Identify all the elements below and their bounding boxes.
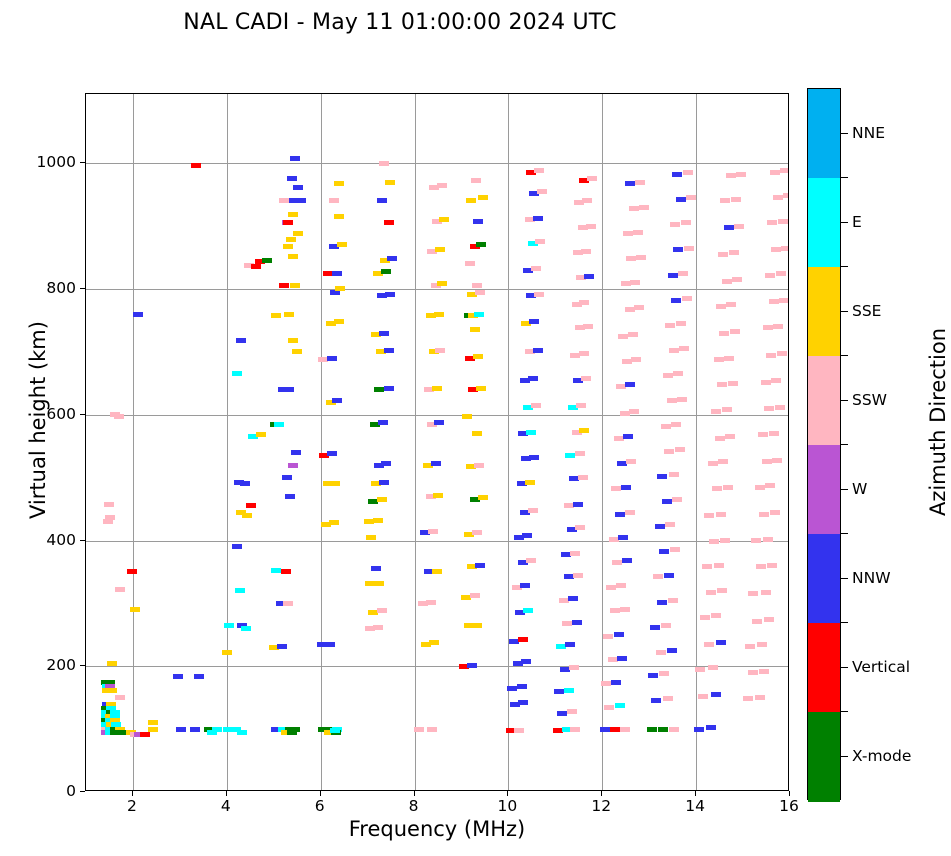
- echo-point: [526, 430, 536, 435]
- echo-point: [578, 475, 588, 480]
- echo-point: [670, 222, 680, 227]
- echo-point: [761, 380, 771, 385]
- echo-point: [766, 353, 776, 358]
- echo-point: [673, 371, 683, 376]
- echo-point: [290, 156, 300, 161]
- echo-point: [783, 193, 788, 198]
- echo-point: [337, 242, 347, 247]
- echo-point: [659, 671, 669, 676]
- echo-point: [115, 587, 125, 592]
- echo-point: [330, 481, 340, 486]
- echo-point: [700, 615, 710, 620]
- echo-point: [377, 608, 387, 613]
- echo-point: [573, 573, 583, 578]
- colorbar-label-ssw: SSW: [852, 391, 887, 409]
- echo-point: [778, 219, 788, 224]
- echo-point: [771, 378, 781, 383]
- echo-point: [465, 261, 475, 266]
- echo-point: [531, 403, 541, 408]
- echo-point: [529, 319, 539, 324]
- echo-point: [334, 319, 344, 324]
- echo-point: [384, 220, 394, 225]
- echo-point: [470, 593, 480, 598]
- echo-point: [708, 665, 718, 670]
- echo-point: [617, 656, 627, 661]
- echo-point: [664, 573, 674, 578]
- echo-point: [371, 566, 381, 571]
- echo-point: [711, 692, 721, 697]
- echo-point: [722, 279, 732, 284]
- echo-point: [385, 180, 395, 185]
- echo-point: [678, 271, 688, 276]
- echo-point: [656, 650, 666, 655]
- echo-point: [296, 198, 306, 203]
- colorbar-segment-x-mode: [808, 712, 840, 802]
- echo-point: [437, 183, 447, 188]
- echo-point: [428, 529, 438, 534]
- echo-point: [377, 497, 387, 502]
- x-tick-mark: [695, 791, 696, 796]
- echo-point: [475, 563, 485, 568]
- echo-point: [472, 283, 482, 288]
- echo-point: [224, 623, 234, 628]
- y-tick-label: 800: [46, 279, 76, 297]
- echo-point: [763, 325, 773, 330]
- echo-point: [764, 617, 774, 622]
- echo-point: [675, 447, 685, 452]
- echo-point: [284, 387, 294, 392]
- echo-point: [107, 661, 117, 666]
- echo-point: [639, 205, 649, 210]
- echo-point: [669, 727, 679, 732]
- echo-point: [759, 512, 769, 517]
- echo-point: [414, 727, 424, 732]
- echo-point: [579, 428, 589, 433]
- colorbar-axis-label: Azimuth Direction: [926, 252, 950, 592]
- echo-point: [614, 632, 624, 637]
- echo-point: [633, 230, 643, 235]
- echo-point: [288, 212, 298, 217]
- colorbar-tick: [841, 133, 848, 134]
- echo-point: [384, 348, 394, 353]
- echo-point: [668, 598, 678, 603]
- echo-point: [769, 431, 779, 436]
- echo-point: [745, 644, 755, 649]
- echo-point: [576, 403, 586, 408]
- echo-point: [775, 405, 785, 410]
- echo-point: [581, 376, 591, 381]
- colorbar-tick: [841, 578, 848, 579]
- echo-point: [327, 451, 337, 456]
- echo-point: [288, 463, 298, 468]
- echo-point: [251, 264, 261, 269]
- colorbar-boundary-tick: [841, 533, 848, 534]
- echo-point: [237, 730, 247, 735]
- echo-point: [695, 667, 705, 672]
- echo-point: [734, 224, 744, 229]
- echo-point: [290, 283, 300, 288]
- echo-point: [629, 409, 639, 414]
- echo-point: [573, 502, 583, 507]
- echo-point: [672, 172, 682, 177]
- echo-point: [432, 569, 442, 574]
- x-tick-mark: [789, 791, 790, 796]
- echo-point: [427, 727, 437, 732]
- echo-point: [293, 231, 303, 236]
- echo-point: [292, 349, 302, 354]
- echo-point: [472, 431, 482, 436]
- x-axis-label: Frequency (MHz): [85, 817, 789, 841]
- echo-point: [531, 266, 541, 271]
- echo-point: [736, 172, 746, 177]
- echo-point: [770, 170, 780, 175]
- echo-point: [623, 434, 633, 439]
- echo-point: [378, 420, 388, 425]
- echo-point: [332, 398, 342, 403]
- echo-point: [716, 512, 726, 517]
- echo-point: [570, 551, 580, 556]
- echo-point: [329, 520, 339, 525]
- echo-point: [565, 642, 575, 647]
- echo-point: [325, 642, 335, 647]
- echo-point: [659, 549, 669, 554]
- echo-point: [770, 510, 780, 515]
- echo-point: [569, 665, 579, 670]
- echo-point: [625, 382, 635, 387]
- echo-point: [140, 732, 150, 737]
- echo-point: [661, 623, 671, 628]
- y-tick-label: 200: [46, 656, 76, 674]
- echo-point: [582, 198, 592, 203]
- echo-point: [274, 422, 284, 427]
- echo-point: [765, 273, 775, 278]
- echo-point: [471, 178, 481, 183]
- plot-area: [85, 93, 789, 791]
- echo-point: [335, 286, 345, 291]
- x-tick-label: 12: [591, 797, 611, 815]
- echo-point: [232, 544, 242, 549]
- echo-point: [435, 348, 445, 353]
- echo-point: [288, 254, 298, 259]
- echo-point: [522, 533, 532, 538]
- echo-point: [433, 493, 443, 498]
- echo-point: [704, 642, 714, 647]
- echo-point: [190, 727, 200, 732]
- echo-point: [581, 249, 591, 254]
- x-tick-mark: [601, 791, 602, 796]
- y-tick-mark: [80, 414, 85, 415]
- echo-point: [712, 486, 722, 491]
- echo-point: [330, 728, 340, 733]
- echo-point: [286, 237, 296, 242]
- echo-point: [757, 642, 767, 647]
- x-tick-mark: [507, 791, 508, 796]
- echo-point: [379, 161, 389, 166]
- echo-point: [762, 459, 772, 464]
- echo-point: [470, 327, 480, 332]
- echo-point: [729, 250, 739, 255]
- echo-point: [658, 727, 668, 732]
- y-tick-mark: [80, 288, 85, 289]
- echo-point: [327, 356, 337, 361]
- y-tick-label: 600: [46, 405, 76, 423]
- echo-point: [282, 475, 292, 480]
- echo-point: [650, 625, 660, 630]
- echo-point: [743, 696, 753, 701]
- echo-point: [366, 535, 376, 540]
- echo-point: [679, 346, 689, 351]
- echo-point: [104, 502, 114, 507]
- echo-point: [731, 197, 741, 202]
- echo-point: [256, 432, 266, 437]
- echo-point: [681, 220, 691, 225]
- echo-point: [664, 449, 674, 454]
- echo-point: [764, 406, 774, 411]
- echo-point: [283, 220, 293, 225]
- echo-point: [236, 338, 246, 343]
- echo-point: [677, 397, 687, 402]
- echo-point: [173, 674, 183, 679]
- echo-point: [176, 727, 186, 732]
- echo-point: [718, 252, 728, 257]
- echo-point: [246, 503, 256, 508]
- colorbar-segment-vertical: [808, 623, 840, 713]
- scatter-data-layer: [86, 94, 788, 790]
- echo-point: [279, 198, 289, 203]
- echo-point: [719, 331, 729, 336]
- echo-point: [676, 321, 686, 326]
- echo-point: [776, 271, 786, 276]
- x-tick-mark: [132, 791, 133, 796]
- echo-point: [579, 300, 589, 305]
- colorbar-tick: [841, 222, 848, 223]
- echo-point: [767, 220, 777, 225]
- echo-point: [518, 637, 528, 642]
- echo-point: [724, 356, 734, 361]
- echo-point: [381, 461, 391, 466]
- echo-point: [668, 273, 678, 278]
- echo-point: [373, 625, 383, 630]
- echo-point: [702, 564, 712, 569]
- echo-point: [429, 640, 439, 645]
- echo-point: [694, 727, 704, 732]
- echo-point: [728, 381, 738, 386]
- echo-point: [587, 176, 597, 181]
- y-tick-mark: [80, 665, 85, 666]
- echo-point: [529, 455, 539, 460]
- echo-point: [758, 432, 768, 437]
- echo-point: [426, 600, 436, 605]
- echo-point: [473, 219, 483, 224]
- echo-point: [603, 634, 613, 639]
- y-tick-mark: [80, 791, 85, 792]
- echo-point: [518, 700, 528, 705]
- colorbar-label-nne: NNE: [852, 124, 885, 142]
- echo-point: [534, 168, 544, 173]
- echo-point: [720, 198, 730, 203]
- echo-point: [628, 332, 638, 337]
- echo-point: [277, 644, 287, 649]
- y-tick-label: 0: [66, 782, 76, 800]
- x-tick-label: 2: [127, 797, 137, 815]
- echo-point: [107, 688, 117, 693]
- echo-point: [579, 351, 589, 356]
- colorbar-segment-w: [808, 445, 840, 535]
- echo-point: [291, 450, 301, 455]
- echo-point: [763, 537, 773, 542]
- echo-point: [636, 255, 646, 260]
- echo-point: [271, 313, 281, 318]
- echo-point: [761, 590, 771, 595]
- x-tick-label: 10: [498, 797, 518, 815]
- echo-point: [288, 338, 298, 343]
- echo-point: [279, 283, 289, 288]
- echo-point: [379, 331, 389, 336]
- echo-point: [669, 472, 679, 477]
- echo-point: [528, 508, 538, 513]
- echo-point: [723, 485, 733, 490]
- echo-point: [620, 727, 630, 732]
- colorbar-tick: [841, 756, 848, 757]
- echo-point: [262, 258, 272, 263]
- echo-point: [752, 619, 762, 624]
- echo-point: [621, 485, 631, 490]
- colorbar-segment-nne: [808, 89, 840, 179]
- echo-point: [334, 214, 344, 219]
- echo-point: [615, 703, 625, 708]
- colorbar-label-w: W: [852, 480, 867, 498]
- echo-point: [526, 558, 536, 563]
- echo-point: [686, 195, 696, 200]
- echo-point: [520, 583, 530, 588]
- echo-point: [575, 451, 585, 456]
- colorbar-boundary-tick: [841, 266, 848, 267]
- colorbar-label-sse: SSE: [852, 302, 881, 320]
- echo-point: [653, 574, 663, 579]
- echo-point: [715, 436, 725, 441]
- echo-point: [717, 588, 727, 593]
- y-tick-label: 400: [46, 531, 76, 549]
- echo-point: [630, 280, 640, 285]
- echo-point: [534, 292, 544, 297]
- echo-point: [657, 474, 667, 479]
- echo-point: [661, 424, 671, 429]
- echo-point: [748, 591, 758, 596]
- echo-point: [191, 163, 201, 168]
- echo-point: [373, 518, 383, 523]
- echo-point: [684, 246, 694, 251]
- echo-point: [714, 357, 724, 362]
- echo-point: [103, 519, 113, 524]
- y-tick-mark: [80, 162, 85, 163]
- echo-point: [281, 569, 291, 574]
- echo-point: [730, 329, 740, 334]
- colorbar-boundary-tick: [841, 711, 848, 712]
- echo-point: [672, 497, 682, 502]
- echo-point: [476, 386, 486, 391]
- echo-point: [476, 242, 486, 247]
- echo-point: [655, 524, 665, 529]
- echo-point: [708, 461, 718, 466]
- echo-point: [769, 299, 779, 304]
- echo-point: [720, 538, 730, 543]
- echo-point: [148, 720, 158, 725]
- colorbar-tick: [841, 311, 848, 312]
- echo-point: [732, 277, 742, 282]
- echo-point: [432, 386, 442, 391]
- x-tick-label: 14: [685, 797, 705, 815]
- colorbar-segment-sse: [808, 267, 840, 357]
- echo-point: [570, 727, 580, 732]
- y-axis-label: Virtual height (km): [26, 260, 50, 580]
- echo-point: [241, 626, 251, 631]
- colorbar-boundary-tick: [841, 177, 848, 178]
- echo-point: [379, 480, 389, 485]
- echo-point: [194, 674, 204, 679]
- echo-point: [709, 539, 719, 544]
- colorbar-tick: [841, 400, 848, 401]
- echo-point: [670, 547, 680, 552]
- echo-point: [240, 481, 250, 486]
- echo-point: [528, 376, 538, 381]
- echo-point: [537, 189, 547, 194]
- echo-point: [714, 563, 724, 568]
- echo-point: [466, 198, 476, 203]
- echo-point: [698, 694, 708, 699]
- echo-point: [616, 583, 626, 588]
- echo-point: [434, 312, 444, 317]
- y-tick-label: 1000: [37, 153, 76, 171]
- x-tick-label: 8: [409, 797, 419, 815]
- echo-point: [287, 730, 297, 735]
- echo-point: [725, 434, 735, 439]
- echo-point: [781, 246, 788, 251]
- x-tick-label: 16: [779, 797, 799, 815]
- echo-point: [472, 530, 482, 535]
- echo-point: [635, 180, 645, 185]
- echo-point: [667, 398, 677, 403]
- echo-point: [631, 357, 641, 362]
- echo-point: [525, 480, 535, 485]
- echo-point: [606, 585, 616, 590]
- echo-point: [232, 371, 242, 376]
- echo-point: [575, 525, 585, 530]
- echo-point: [533, 348, 543, 353]
- echo-point: [572, 620, 582, 625]
- echo-point: [467, 663, 477, 668]
- colorbar-label-x-mode: X-mode: [852, 747, 911, 765]
- echo-point: [374, 581, 384, 586]
- echo-point: [285, 494, 295, 499]
- colorbar-segment-ssw: [808, 356, 840, 446]
- echo-point: [682, 296, 692, 301]
- echo-point: [663, 696, 673, 701]
- echo-point: [716, 640, 726, 645]
- echo-point: [514, 728, 524, 733]
- colorbar-boundary-tick: [841, 444, 848, 445]
- echo-point: [564, 688, 574, 693]
- echo-point: [435, 247, 445, 252]
- echo-point: [287, 176, 297, 181]
- x-tick-mark: [226, 791, 227, 796]
- echo-point: [293, 185, 303, 190]
- echo-point: [716, 304, 726, 309]
- x-tick-mark: [320, 791, 321, 796]
- echo-point: [439, 217, 449, 222]
- echo-point: [584, 274, 594, 279]
- echo-point: [521, 659, 531, 664]
- echo-point: [533, 216, 543, 221]
